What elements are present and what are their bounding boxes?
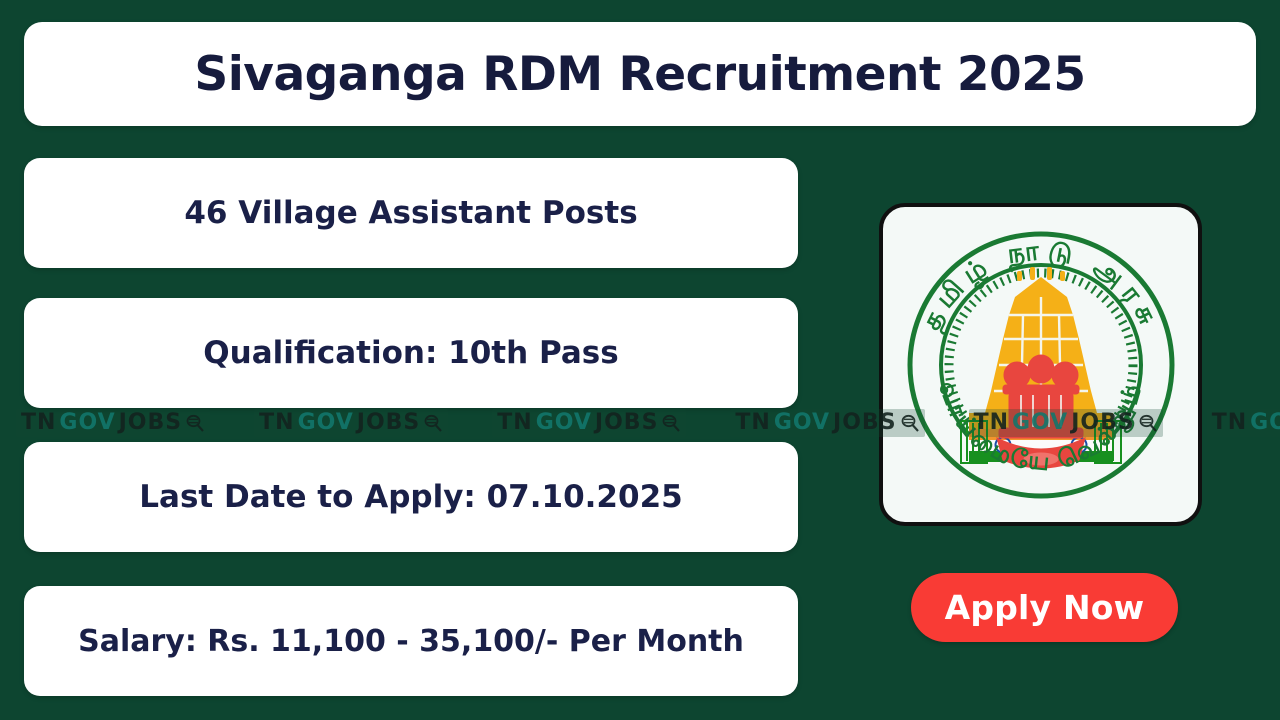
title-card: Sivaganga RDM Recruitment 2025: [24, 22, 1256, 126]
info-card-salary: Salary: Rs. 11,100 - 35,100/- Per Month: [24, 586, 798, 696]
info-card-list: 46 Village Assistant Posts Qualification…: [24, 158, 798, 698]
info-card-label: 46 Village Assistant Posts: [184, 196, 637, 230]
tamil-nadu-emblem-card: தமிழ் நாடு அரசு வாய்மையே வெல்லும்: [879, 203, 1202, 526]
watermark: TN GOV JOBS: [1207, 409, 1280, 437]
recruitment-poster: Sivaganga RDM Recruitment 2025 46 Villag…: [0, 0, 1280, 720]
info-card-last-date: Last Date to Apply: 07.10.2025: [24, 442, 798, 552]
watermark-tn: TN: [1212, 412, 1247, 434]
info-card-vacancy: 46 Village Assistant Posts: [24, 158, 798, 268]
tamil-nadu-government-emblem-icon: தமிழ் நாடு அரசு வாய்மையே வெல்லும்: [891, 215, 1191, 515]
info-card-label: Qualification: 10th Pass: [203, 336, 618, 370]
info-card-qualification: Qualification: 10th Pass: [24, 298, 798, 408]
apply-now-button[interactable]: Apply Now: [911, 573, 1178, 642]
info-card-label: Last Date to Apply: 07.10.2025: [139, 480, 682, 514]
info-card-label: Salary: Rs. 11,100 - 35,100/- Per Month: [78, 625, 744, 658]
watermark-gov: GOV: [1250, 412, 1280, 434]
page-title: Sivaganga RDM Recruitment 2025: [194, 47, 1085, 102]
